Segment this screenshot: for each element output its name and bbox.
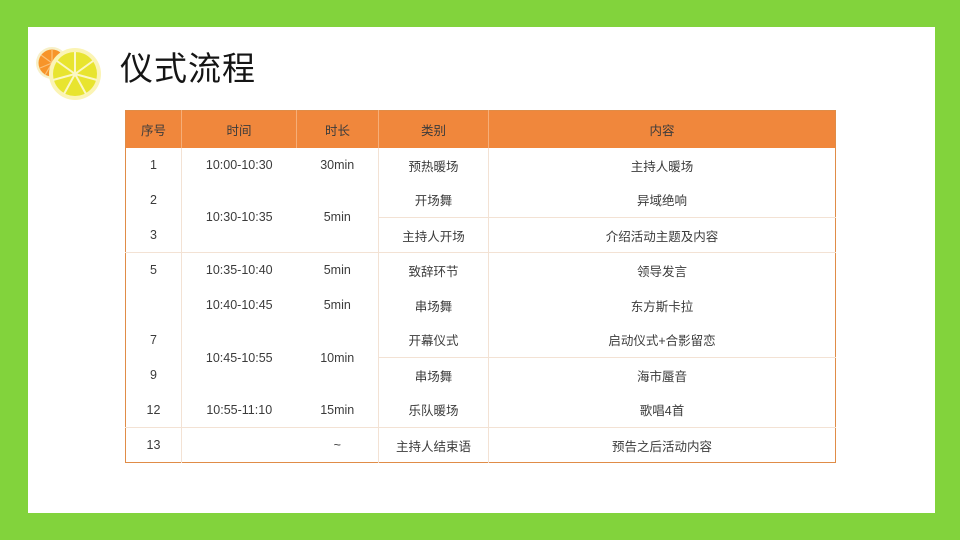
table-header: 序号 时间 时长 类别 内容: [126, 111, 836, 148]
cell-content: 东方斯卡拉: [489, 288, 836, 323]
schedule-table: 序号 时间 时长 类别 内容 1 10:00-10:30 30min 预热暖场 …: [125, 110, 836, 463]
cell-duration: ~: [297, 428, 379, 463]
column-header-content: 内容: [489, 111, 836, 148]
cell-category: 开场舞: [379, 183, 489, 218]
cell-category: 开幕仪式: [379, 323, 489, 358]
cell-seq: 9: [126, 358, 182, 393]
table-body: 1 10:00-10:30 30min 预热暖场 主持人暖场 2 10:30-1…: [126, 148, 836, 463]
cell-seq: 13: [126, 428, 182, 463]
cell-category: 串场舞: [379, 288, 489, 323]
cell-time: 10:30-10:35: [182, 183, 297, 253]
cell-content: 主持人暖场: [489, 148, 836, 183]
cell-time: 10:00-10:30: [182, 148, 297, 183]
table-header-row: 序号 时间 时长 类别 内容: [126, 111, 836, 148]
cell-duration: 15min: [297, 393, 379, 428]
cell-seq: 12: [126, 393, 182, 428]
slide-white-panel: 仪式流程 序号 时间 时长 类别 内容 1 10:00-10:30 30min …: [28, 27, 935, 513]
table-row: 1 10:00-10:30 30min 预热暖场 主持人暖场: [126, 148, 836, 183]
cell-category: 主持人结束语: [379, 428, 489, 463]
column-header-category: 类别: [379, 111, 489, 148]
cell-category: 串场舞: [379, 358, 489, 393]
cell-duration: 5min: [297, 183, 379, 253]
cell-content: 预告之后活动内容: [489, 428, 836, 463]
cell-seq: 3: [126, 218, 182, 253]
table-row: 10:40-10:45 5min 串场舞 东方斯卡拉: [126, 288, 836, 323]
title-block: 仪式流程: [28, 27, 935, 107]
cell-content: 异域绝响: [489, 183, 836, 218]
cell-duration: 5min: [297, 253, 379, 288]
cell-seq: 2: [126, 183, 182, 218]
cell-category: 主持人开场: [379, 218, 489, 253]
column-header-seq: 序号: [126, 111, 182, 148]
cell-seq: [126, 288, 182, 323]
table-row: 7 10:45-10:55 10min 开幕仪式 启动仪式+合影留恋: [126, 323, 836, 358]
cell-time: 10:40-10:45: [182, 288, 297, 323]
cell-content: 启动仪式+合影留恋: [489, 323, 836, 358]
cell-seq: 7: [126, 323, 182, 358]
cell-duration: 30min: [297, 148, 379, 183]
cell-time: 10:35-10:40: [182, 253, 297, 288]
cell-time: 10:55-11:10: [182, 393, 297, 428]
table-row: 5 10:35-10:40 5min 致辞环节 领导发言: [126, 253, 836, 288]
cell-duration: 5min: [297, 288, 379, 323]
cell-content: 介绍活动主题及内容: [489, 218, 836, 253]
page-title: 仪式流程: [120, 47, 256, 91]
slide-canvas: 仪式流程 序号 时间 时长 类别 内容 1 10:00-10:30 30min …: [0, 0, 960, 540]
table-row: 13 ~ 主持人结束语 预告之后活动内容: [126, 428, 836, 463]
cell-content: 领导发言: [489, 253, 836, 288]
column-header-duration: 时长: [297, 111, 379, 148]
lemon-slice-icon: [31, 42, 109, 104]
table-row: 2 10:30-10:35 5min 开场舞 异域绝响: [126, 183, 836, 218]
column-header-time: 时间: [182, 111, 297, 148]
cell-seq: 1: [126, 148, 182, 183]
cell-content: 海市蜃音: [489, 358, 836, 393]
cell-seq: 5: [126, 253, 182, 288]
cell-time: [182, 428, 297, 463]
cell-category: 预热暖场: [379, 148, 489, 183]
table-row: 12 10:55-11:10 15min 乐队暖场 歌唱4首: [126, 393, 836, 428]
cell-category: 乐队暖场: [379, 393, 489, 428]
cell-time: 10:45-10:55: [182, 323, 297, 393]
cell-category: 致辞环节: [379, 253, 489, 288]
cell-content: 歌唱4首: [489, 393, 836, 428]
cell-duration: 10min: [297, 323, 379, 393]
